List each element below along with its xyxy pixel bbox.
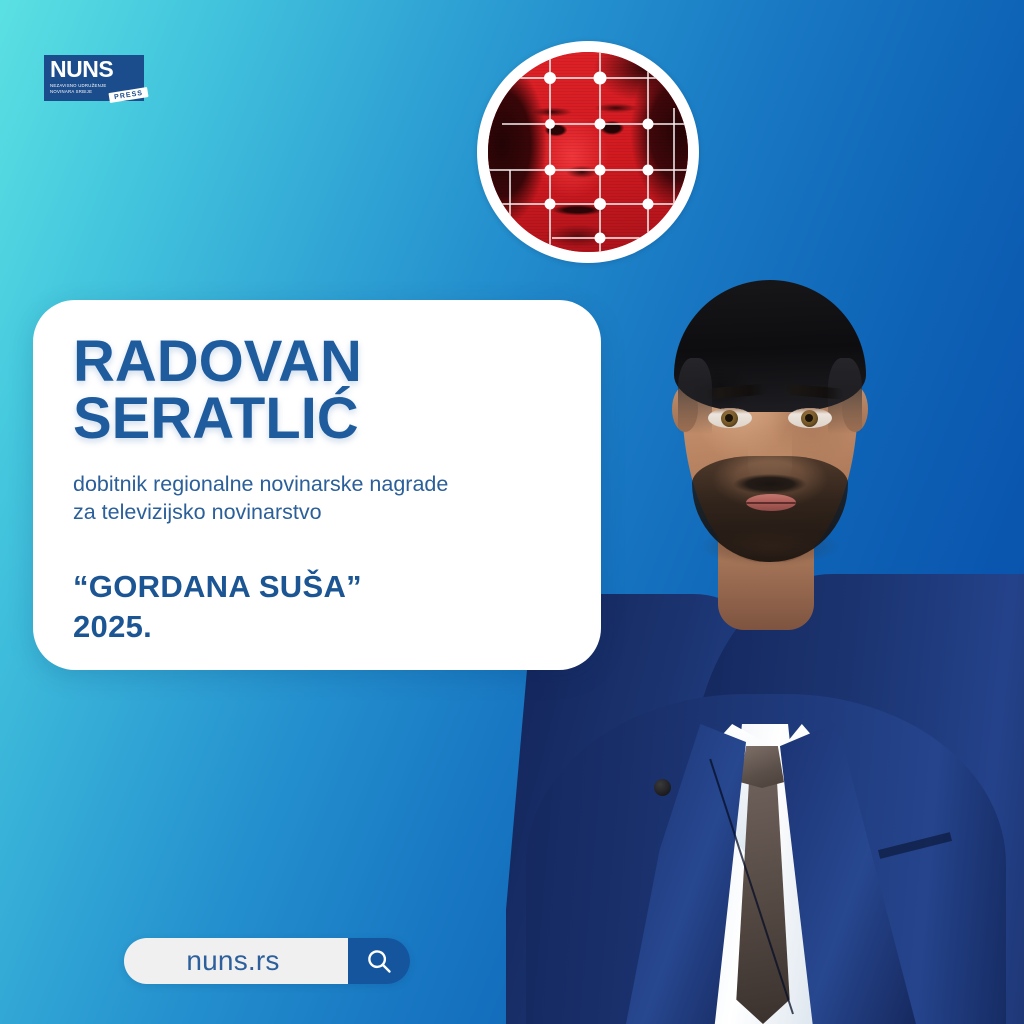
search-input-value: nuns.rs [186,945,279,977]
search-button[interactable] [348,938,410,984]
subtitle-line-2: za televizijsko novinarstvo [73,498,561,527]
logo-wordmark: NUNS [50,59,138,81]
jaw-shadow [686,528,854,574]
lip-line [746,502,796,504]
award-line-2: 2025. [73,607,561,647]
poster-canvas: NUNS NEZAVISNO UDRUŽENJE NOVINARA SRBIJE… [0,0,1024,1024]
name-line-2: SERATLIĆ [73,391,561,448]
nuns-logo[interactable]: NUNS NEZAVISNO UDRUŽENJE NOVINARA SRBIJE… [44,55,144,101]
grid-network-overlay-icon [488,52,688,252]
award-info-card: RADOVAN SERATLIĆ dobitnik regionalne nov… [33,300,601,670]
eyelid-right [788,408,832,414]
website-search-pill[interactable]: nuns.rs [124,938,410,984]
name-line-1: RADOVAN [73,334,561,391]
press-tag-label: PRESS [113,89,143,100]
suit-button [654,779,671,796]
eye-right [788,408,832,428]
eye-left [708,408,752,428]
subtitle-line-1: dobitnik regionalne novinarske nagrade [73,470,561,499]
search-input[interactable]: nuns.rs [124,938,348,984]
award-line-1: “GORDANA SUŠA” [73,567,561,607]
award-name: “GORDANA SUŠA” 2025. [73,567,561,646]
award-subtitle: dobitnik regionalne novinarske nagrade z… [73,470,561,527]
page-title: RADOVAN SERATLIĆ [73,334,561,448]
search-icon [364,946,394,976]
eyelid-left [708,408,752,414]
necktie-knot [740,746,784,788]
badge-portrait-duotone [488,52,688,252]
mustache [730,474,810,494]
